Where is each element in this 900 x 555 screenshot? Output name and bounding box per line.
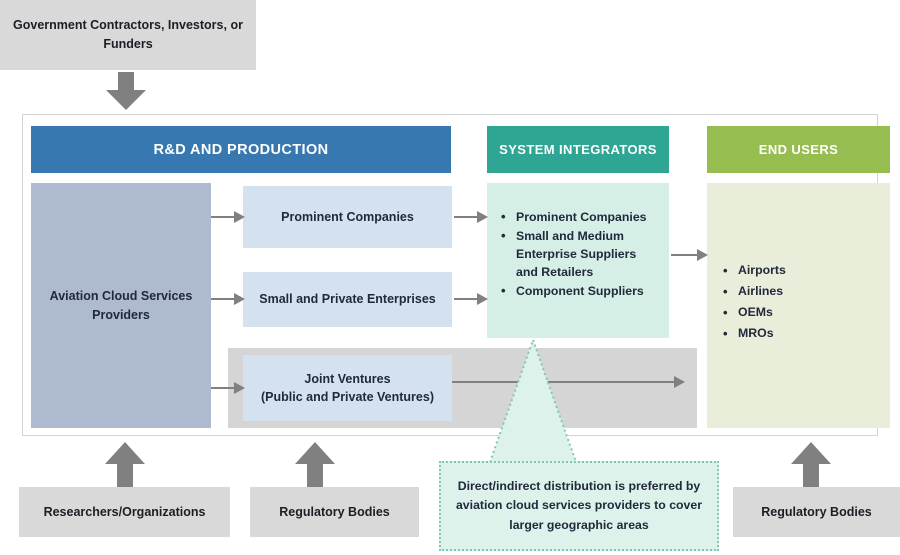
provider-label: Aviation Cloud Services Providers [39, 287, 203, 325]
list-item: Airports [721, 261, 880, 281]
rd-box-joint-ventures: Joint Ventures (Public and Private Ventu… [243, 355, 452, 421]
callout-box: Direct/indirect distribution is preferre… [439, 461, 719, 551]
arrow-shaft [117, 462, 133, 488]
up-arrow-icon-researchers [105, 442, 145, 487]
callout-pointer [488, 338, 578, 464]
arrow-head [105, 442, 145, 464]
arrow-head [106, 90, 146, 110]
arrow-shaft [211, 387, 235, 389]
aviation-cloud-services-providers-box: Aviation Cloud Services Providers [31, 183, 211, 428]
arrow-shaft [454, 298, 478, 300]
rd-box-joint-ventures-label: Joint Ventures (Public and Private Ventu… [261, 370, 434, 406]
down-arrow-icon [106, 72, 146, 110]
flow-arrow-provider-to-small [211, 293, 245, 305]
column-header-end-users: END USERS [707, 126, 890, 173]
rd-box-small-private-enterprises-label: Small and Private Enterprises [259, 290, 435, 308]
arrow-shaft [803, 462, 819, 488]
system-integrators-list: Prominent Companies Small and Medium Ent… [499, 209, 659, 301]
end-users-body: Airports Airlines OEMs MROs [707, 183, 890, 428]
callout-text: Direct/indirect distribution is preferre… [451, 477, 707, 534]
bottom-stakeholder-researchers-label: Researchers/Organizations [44, 505, 206, 519]
arrow-shaft [671, 254, 698, 256]
list-item: Component Suppliers [499, 283, 659, 301]
list-item: Small and Medium Enterprise Suppliers an… [499, 228, 659, 282]
rd-box-prominent-companies: Prominent Companies [243, 186, 452, 248]
arrow-head [234, 211, 245, 223]
flow-arrow-provider-to-joint-ventures [211, 382, 245, 394]
system-integrators-body: Prominent Companies Small and Medium Ent… [487, 183, 669, 338]
column-header-system-integrators: SYSTEM INTEGRATORS [487, 126, 669, 173]
column-header-si-label: SYSTEM INTEGRATORS [499, 142, 657, 157]
arrow-shaft [211, 216, 235, 218]
rd-box-prominent-companies-label: Prominent Companies [281, 208, 414, 226]
bottom-stakeholder-regulatory-left: Regulatory Bodies [250, 487, 419, 537]
arrow-head [234, 382, 245, 394]
rd-box-small-private-enterprises: Small and Private Enterprises [243, 272, 452, 327]
arrow-head [697, 249, 708, 261]
arrow-head [234, 293, 245, 305]
arrow-head [295, 442, 335, 464]
arrow-head [477, 211, 488, 223]
arrow-shaft [118, 72, 134, 92]
flow-arrow-small-to-integrators [454, 293, 488, 305]
rd-box-joint-ventures-line2: (Public and Private Ventures) [261, 390, 434, 404]
end-users-list: Airports Airlines OEMs MROs [721, 261, 880, 344]
list-item: Airlines [721, 282, 880, 302]
list-item: MROs [721, 324, 880, 344]
arrow-shaft [211, 298, 235, 300]
column-header-eu-label: END USERS [759, 142, 838, 157]
list-item: Prominent Companies [499, 209, 659, 227]
bottom-stakeholder-researchers: Researchers/Organizations [19, 487, 230, 537]
top-stakeholder-box: Government Contractors, Investors, or Fu… [0, 0, 256, 70]
bottom-stakeholder-regulatory-right-label: Regulatory Bodies [761, 505, 871, 519]
arrow-shaft [307, 462, 323, 488]
bottom-stakeholder-regulatory-left-label: Regulatory Bodies [279, 505, 389, 519]
up-arrow-icon-regulatory-right [791, 442, 831, 487]
flow-arrow-integrators-to-end-users [671, 249, 709, 261]
flow-arrow-prominent-to-integrators [454, 211, 488, 223]
arrow-head [791, 442, 831, 464]
rd-box-joint-ventures-line1: Joint Ventures [304, 372, 390, 386]
bottom-stakeholder-regulatory-right: Regulatory Bodies [733, 487, 900, 537]
list-item: OEMs [721, 303, 880, 323]
arrow-shaft [454, 216, 478, 218]
top-stakeholder-label: Government Contractors, Investors, or Fu… [10, 16, 246, 55]
arrow-head [674, 376, 685, 388]
column-header-rd-label: R&D AND PRODUCTION [153, 142, 328, 158]
arrow-head [477, 293, 488, 305]
flow-arrow-provider-to-prominent [211, 211, 245, 223]
up-arrow-icon-regulatory-left [295, 442, 335, 487]
column-header-rd: R&D AND PRODUCTION [31, 126, 451, 173]
